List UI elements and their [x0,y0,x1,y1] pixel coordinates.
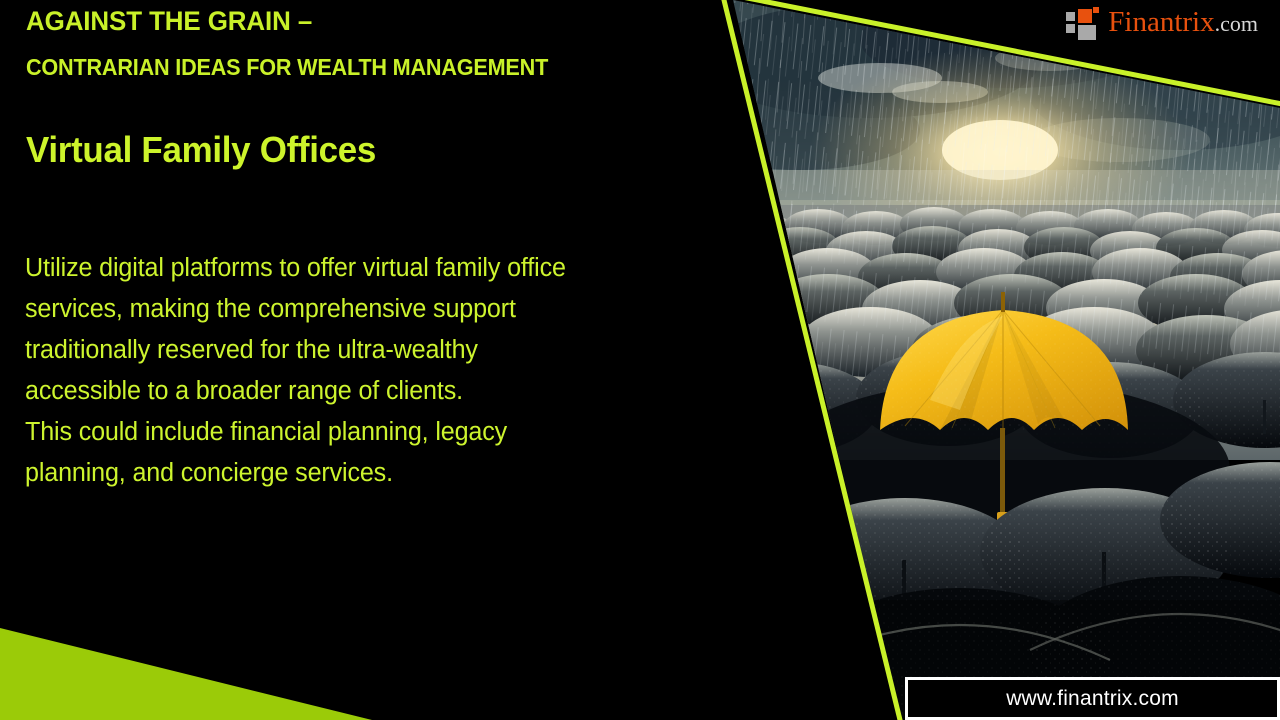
body-line: services, making the comprehensive suppo… [25,289,724,330]
yellow-umbrella [880,292,1128,550]
slide-canvas: AGAINST THE GRAIN – CONTRARIAN IDEAS FOR… [0,0,1280,720]
accent-diagonal-left [723,0,901,720]
body-line: Utilize digital platforms to offer virtu… [25,248,724,289]
logo-square-orange-large [1078,9,1092,23]
page-title: Virtual Family Offices [26,129,376,171]
logo-square-grey-large [1078,25,1096,40]
logo-square-grey-top-left [1066,12,1075,21]
finantrix-logo-wordmark: Finantrix.com [1108,8,1258,37]
logo-tld-text: .com [1215,11,1258,36]
body-line: accessible to a broader range of clients… [25,371,724,412]
body-copy: Utilize digital platforms to offer virtu… [25,248,724,494]
finantrix-logo[interactable]: Finantrix.com [1066,7,1258,38]
body-line: traditionally reserved for the ultra-wea… [25,330,724,371]
logo-brand-text: Finantrix [1108,6,1214,38]
text-column: AGAINST THE GRAIN – CONTRARIAN IDEAS FOR… [0,0,730,720]
deck-title-line2: CONTRARIAN IDEAS FOR WEALTH MANAGEMENT [26,54,548,81]
finantrix-logo-mark-icon [1066,7,1099,38]
footer-url-text: www.finantrix.com [1006,687,1179,711]
body-line: This could include financial planning, l… [25,412,724,453]
logo-square-orange-small [1093,7,1099,13]
body-line: planning, and concierge services. [25,453,724,494]
logo-square-grey-bottom-left [1066,24,1075,33]
deck-title-line1: AGAINST THE GRAIN – [26,6,312,37]
artwork-photo [678,0,1280,720]
footer-url-box[interactable]: www.finantrix.com [905,677,1280,720]
